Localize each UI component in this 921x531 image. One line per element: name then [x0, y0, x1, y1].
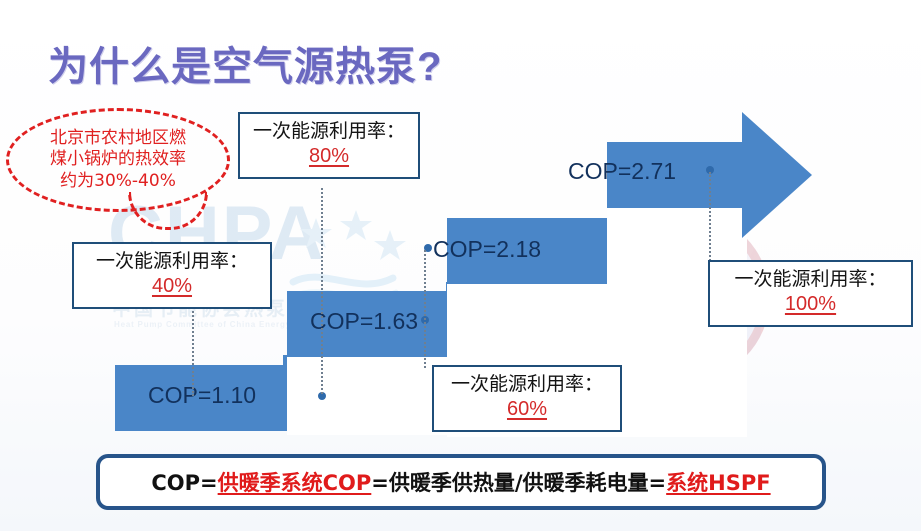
- callout-line-3: 约为30%-40%: [50, 171, 186, 192]
- callout-line-1: 北京市农村地区燃: [50, 128, 186, 149]
- efficiency-box-80-label: 一次能源利用率：: [250, 121, 408, 143]
- formula-part-1: COP=: [151, 471, 217, 495]
- efficiency-box-60: 一次能源利用率： 60%: [432, 365, 622, 432]
- formula-part-2-red: 供暖季系统COP: [218, 471, 372, 495]
- efficiency-box-100: 一次能源利用率： 100%: [708, 260, 913, 327]
- leader-line-80: [321, 188, 323, 394]
- page-title: 为什么是空气源热泵?: [48, 34, 442, 92]
- arrow-shaft: [700, 142, 744, 208]
- callout-line-2: 煤小锅炉的热效率: [50, 149, 186, 170]
- formula-part-3: =供暖季供热量/供暖季耗电量=: [371, 471, 666, 495]
- efficiency-box-100-label: 一次能源利用率：: [720, 269, 901, 291]
- formula-text: COP=供暖季系统COP=供暖季供热量/供暖季耗电量=系统HSPF: [151, 467, 770, 497]
- formula-bar: COP=供暖季系统COP=供暖季供热量/供暖季耗电量=系统HSPF: [96, 454, 826, 510]
- cop-label-4: COP=2.71: [568, 158, 676, 185]
- cop-label-1: COP=1.10: [148, 382, 256, 409]
- cop-label-2: COP=1.63: [310, 308, 418, 335]
- leader-line-60: [424, 250, 426, 368]
- efficiency-box-60-label: 一次能源利用率：: [444, 374, 610, 396]
- efficiency-box-40-value: 40%: [84, 275, 260, 298]
- efficiency-box-80-value: 80%: [250, 145, 408, 168]
- callout-text: 北京市农村地区燃 煤小锅炉的热效率 约为30%-40%: [50, 128, 186, 191]
- arrow-head: [742, 112, 812, 238]
- efficiency-box-60-value: 60%: [444, 398, 610, 421]
- formula-part-4-red: 系统HSPF: [666, 471, 770, 495]
- efficiency-box-80: 一次能源利用率： 80%: [238, 112, 420, 179]
- leader-line-100: [709, 172, 711, 264]
- efficiency-box-40: 一次能源利用率： 40%: [72, 242, 272, 309]
- coal-boiler-callout: 北京市农村地区燃 煤小锅炉的热效率 约为30%-40%: [6, 108, 230, 212]
- efficiency-box-40-label: 一次能源利用率：: [84, 251, 260, 273]
- leader-line-40: [192, 300, 194, 396]
- efficiency-box-100-value: 100%: [720, 293, 901, 316]
- cop-label-3: COP=2.18: [433, 236, 541, 263]
- slide-canvas: CHPA 中国节能协会热泵专业委员会 Heat Pump Committee o…: [0, 0, 921, 531]
